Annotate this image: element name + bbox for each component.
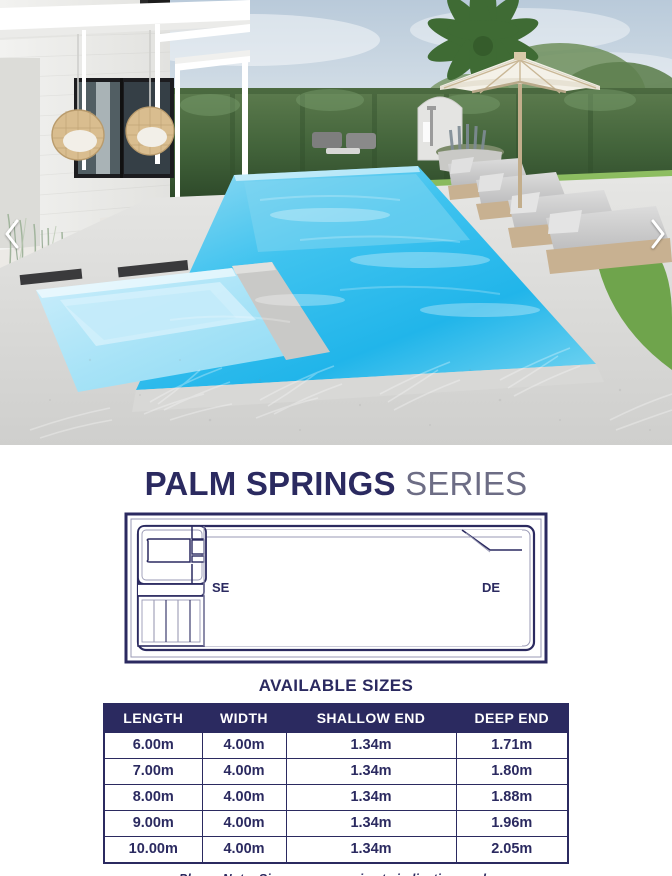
column-header-deep-end: DEEP END	[456, 704, 568, 733]
cell-shallow-end: 1.34m	[286, 784, 456, 810]
table-row: 6.00m 4.00m 1.34m 1.71m	[104, 732, 568, 758]
cell-shallow-end: 1.34m	[286, 758, 456, 784]
table-row: 8.00m 4.00m 1.34m 1.88m	[104, 784, 568, 810]
table-header-row: LENGTH WIDTH SHALLOW END DEEP END	[104, 704, 568, 733]
sizes-table-body: 6.00m 4.00m 1.34m 1.71m 7.00m 4.00m 1.34…	[104, 732, 568, 863]
pool-schematic-container: SE DE	[0, 512, 672, 664]
table-row: 9.00m 4.00m 1.34m 1.96m	[104, 810, 568, 836]
carousel-next-button[interactable]	[644, 214, 670, 254]
cell-length: 7.00m	[104, 758, 202, 784]
page-title-light: SERIES	[396, 465, 528, 502]
cell-deep-end: 1.88m	[456, 784, 568, 810]
cell-shallow-end: 1.34m	[286, 836, 456, 863]
cell-shallow-end: 1.34m	[286, 732, 456, 758]
shallow-end-label: SE	[212, 580, 230, 595]
column-header-shallow-end: SHALLOW END	[286, 704, 456, 733]
cell-width: 4.00m	[202, 758, 286, 784]
page-title: PALM SPRINGS SERIES	[0, 467, 672, 502]
table-row: 7.00m 4.00m 1.34m 1.80m	[104, 758, 568, 784]
pool-image-carousel[interactable]	[0, 0, 672, 445]
carousel-prev-button[interactable]	[0, 214, 26, 254]
pool-product-page: PALM SPRINGS SERIES	[0, 0, 672, 876]
cell-width: 4.00m	[202, 784, 286, 810]
column-header-width: WIDTH	[202, 704, 286, 733]
available-sizes-table: LENGTH WIDTH SHALLOW END DEEP END 6.00m …	[103, 703, 569, 864]
cell-length: 10.00m	[104, 836, 202, 863]
cell-shallow-end: 1.34m	[286, 810, 456, 836]
cell-width: 4.00m	[202, 810, 286, 836]
chevron-left-icon	[0, 214, 26, 254]
chevron-right-icon	[644, 214, 670, 254]
cell-length: 9.00m	[104, 810, 202, 836]
cell-deep-end: 1.71m	[456, 732, 568, 758]
cell-length: 8.00m	[104, 784, 202, 810]
entry-steps	[138, 596, 204, 646]
spa-section	[138, 526, 206, 584]
cell-width: 4.00m	[202, 836, 286, 863]
sizes-table-container: LENGTH WIDTH SHALLOW END DEEP END 6.00m …	[0, 703, 672, 864]
cell-deep-end: 1.80m	[456, 758, 568, 784]
available-sizes-heading: AVAILABLE SIZES	[0, 676, 672, 696]
pool-render-image	[0, 0, 672, 445]
column-header-length: LENGTH	[104, 704, 202, 733]
cell-deep-end: 2.05m	[456, 836, 568, 863]
cell-deep-end: 1.96m	[456, 810, 568, 836]
pool-schematic: SE DE	[124, 512, 548, 664]
product-info-panel: PALM SPRINGS SERIES	[0, 445, 672, 876]
table-row: 10.00m 4.00m 1.34m 2.05m	[104, 836, 568, 863]
deep-end-label: DE	[482, 580, 500, 595]
cell-width: 4.00m	[202, 732, 286, 758]
cell-length: 6.00m	[104, 732, 202, 758]
sizes-disclaimer-note: Please Note: Sizes are approximate indic…	[0, 872, 672, 876]
page-title-strong: PALM SPRINGS	[145, 465, 396, 502]
